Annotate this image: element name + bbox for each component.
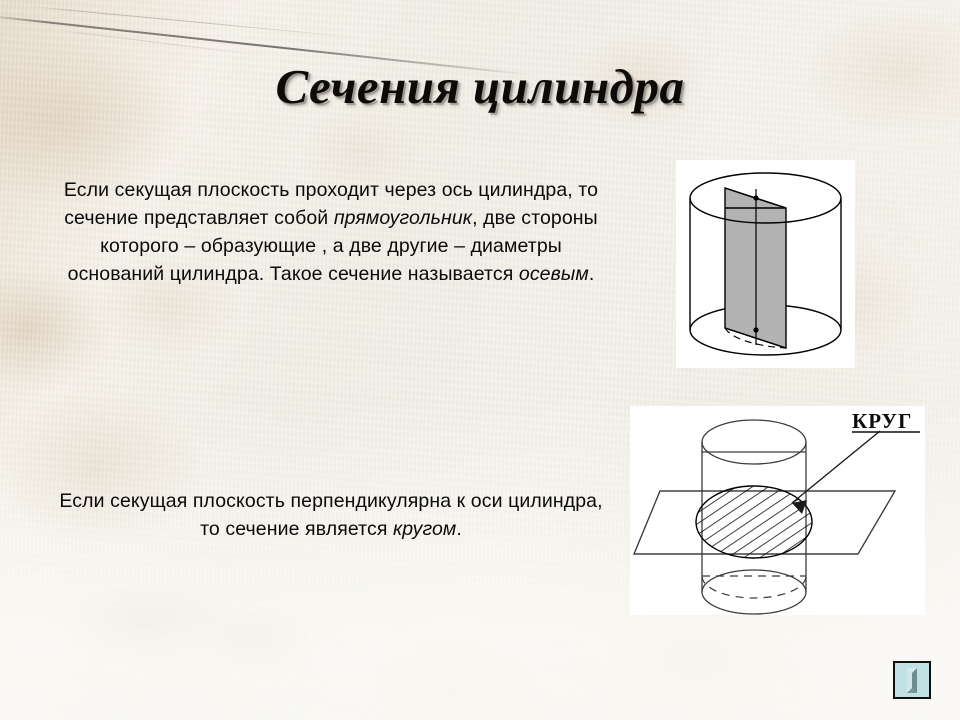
slide-canvas: Сечения цилиндра Если секущая плоскость … — [0, 0, 960, 720]
cylinder2-bottom-hidden-arc — [702, 576, 806, 598]
nav-return-button[interactable] — [893, 661, 931, 699]
paragraph-circle-emphasis-circle: кругом — [393, 518, 456, 540]
paragraph-circle-part1: Если секущая плоскость перпендикулярна к… — [59, 490, 602, 540]
paragraph-axial-emphasis-axial: осевым — [519, 263, 589, 285]
cylinder2-top-base — [702, 420, 806, 464]
crack-line-secondary — [30, 6, 359, 38]
paragraph-circle-part2: . — [456, 518, 462, 540]
page-title: Сечения цилиндра — [0, 58, 960, 115]
nav-button-bevel — [907, 668, 917, 693]
circle-label: КРУГ — [852, 409, 912, 433]
axis-top-point — [753, 195, 758, 200]
figure-circular-section: КРУГ — [630, 406, 925, 615]
cylinder-circle-diagram: КРУГ — [630, 406, 925, 615]
figure-axial-section — [676, 160, 855, 368]
paragraph-axial-section: Если секущая плоскость проходит через ос… — [58, 176, 604, 288]
paragraph-axial-emphasis-rectangle: прямоугольник — [334, 207, 472, 229]
circular-cross-section — [696, 486, 812, 558]
paragraph-axial-part3: . — [589, 263, 595, 285]
crack-line-tertiary — [60, 30, 269, 57]
callout-leader-line — [792, 431, 880, 503]
cylinder-axial-diagram — [676, 160, 855, 368]
axis-bottom-point — [753, 327, 758, 332]
paragraph-circular-section: Если секущая плоскость перпендикулярна к… — [58, 487, 604, 543]
